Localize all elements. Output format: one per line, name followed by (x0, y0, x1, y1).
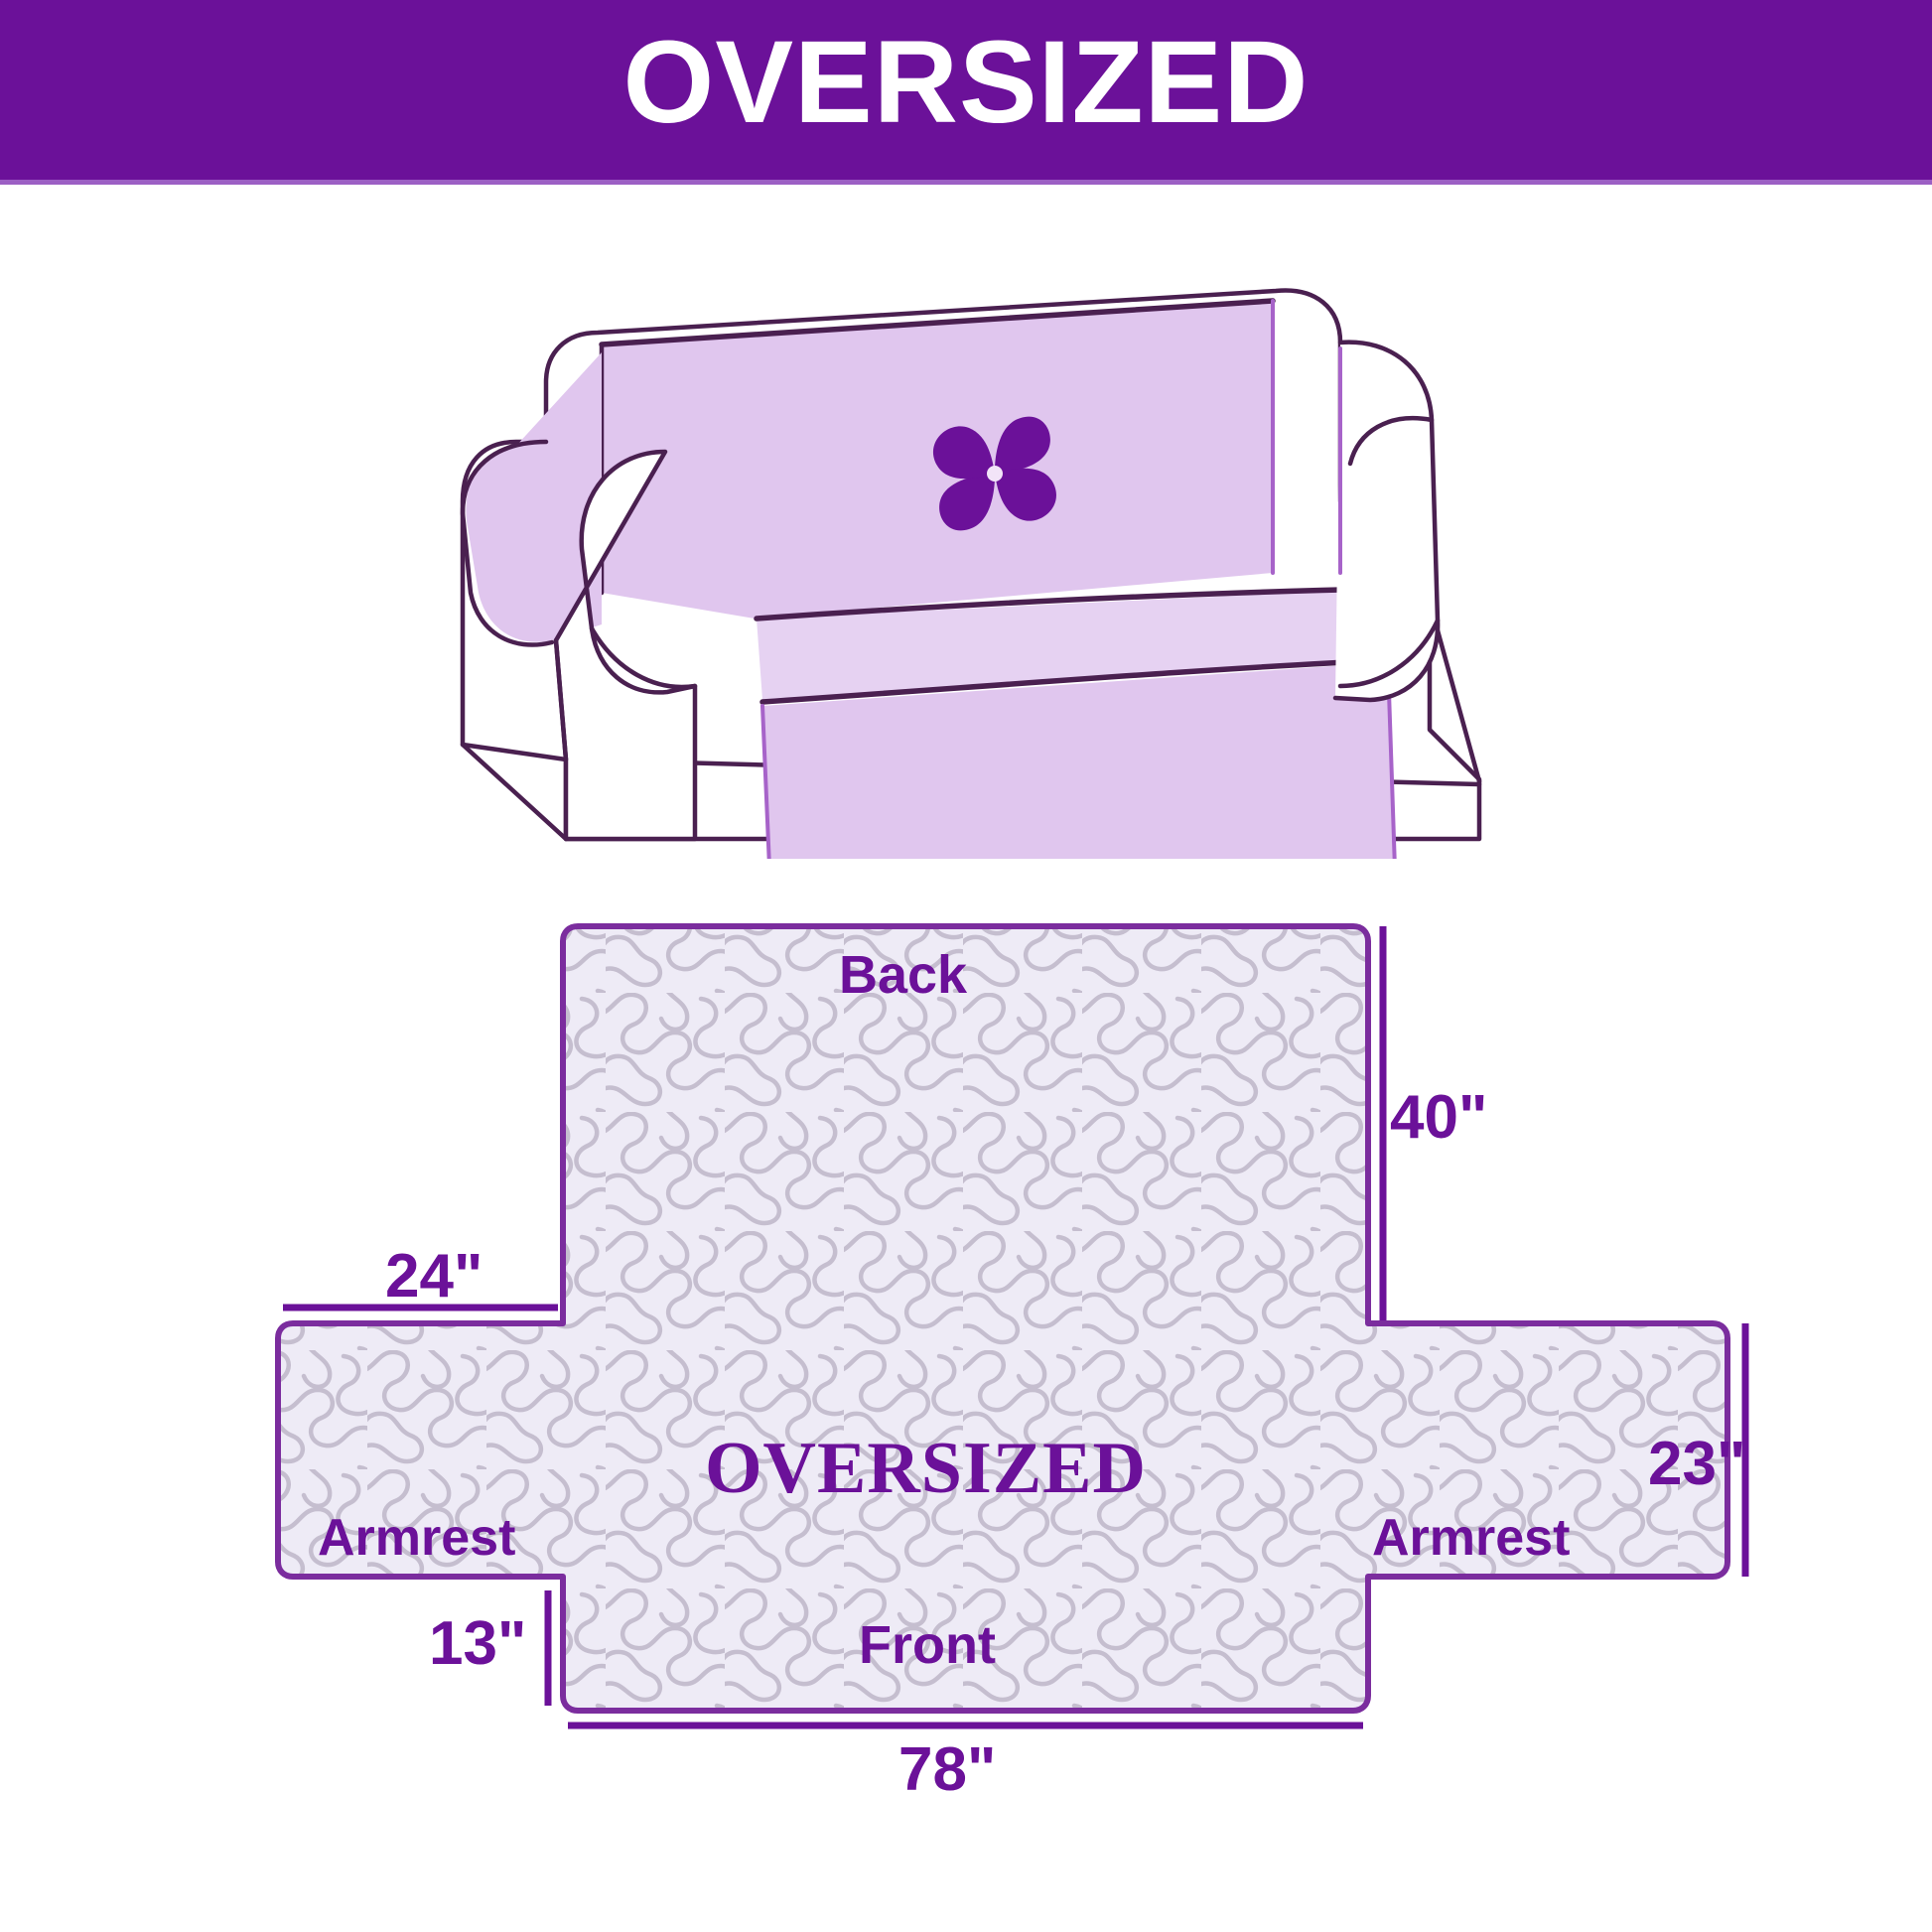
region-label-front: Front (859, 1618, 996, 1672)
dimension-value-armrest-offset: 24" (385, 1246, 483, 1308)
banner-underline (0, 180, 1932, 185)
dimension-value-back-depth: 40" (1390, 1087, 1487, 1149)
dimension-value-armrest-height: 23" (1648, 1434, 1745, 1495)
page-title: OVERSIZED (0, 24, 1932, 141)
sofa-cover-seat (757, 589, 1396, 859)
region-label-armrest-right: Armrest (1372, 1512, 1570, 1564)
dimension-value-front-offset: 13" (429, 1613, 526, 1675)
region-label-back: Back (839, 948, 967, 1002)
cover-shape (278, 926, 1727, 1711)
region-label-armrest-left: Armrest (318, 1512, 515, 1564)
dimension-value-front-width: 78" (898, 1739, 996, 1801)
cover-dimension-diagram (248, 874, 1797, 1866)
region-label-center-oversized: OVERSIZED (705, 1432, 1147, 1505)
sofa-illustration: .ink { fill:none; stroke:#4A2050; stroke… (367, 204, 1579, 859)
